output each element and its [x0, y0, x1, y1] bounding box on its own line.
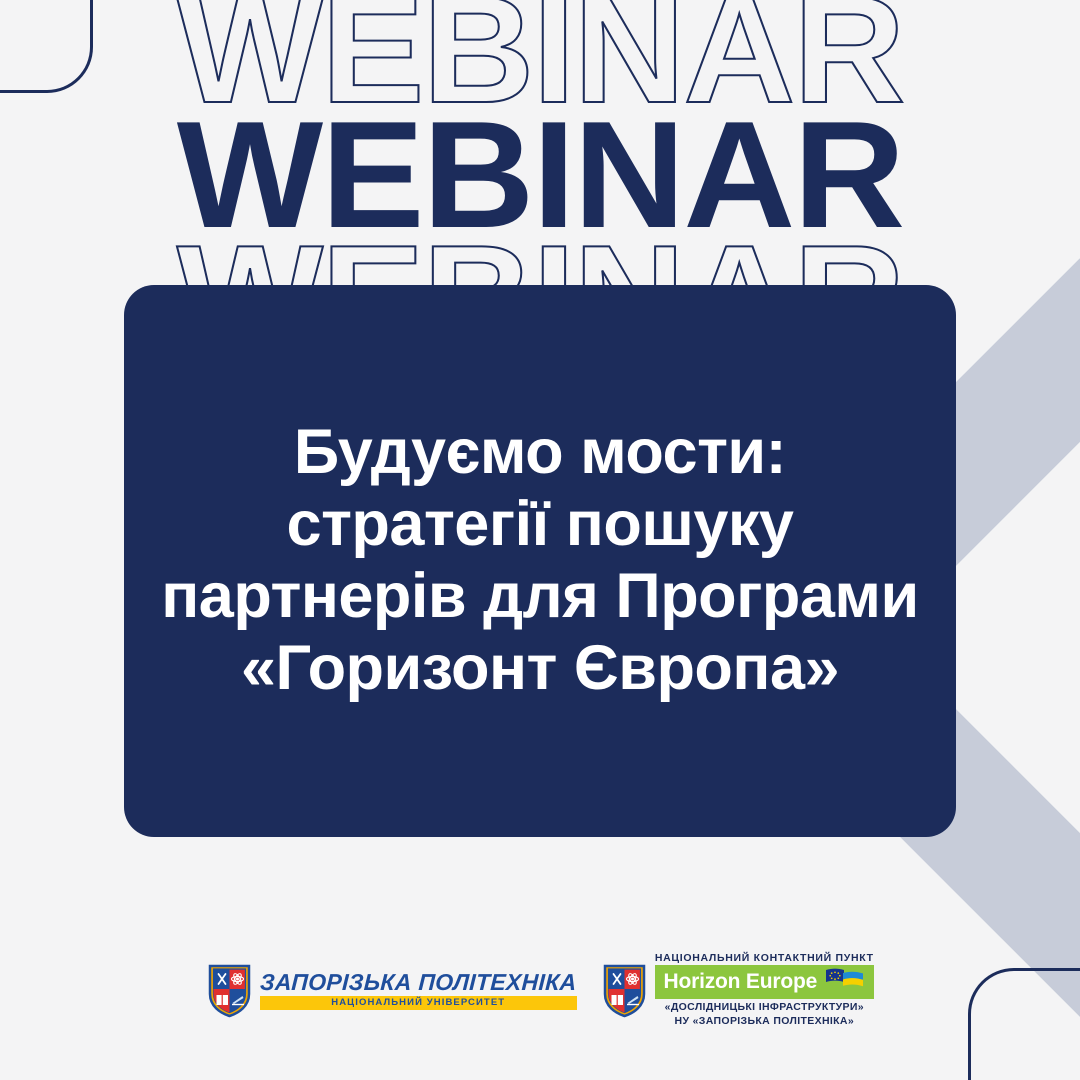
page-title: Будуємо мости: стратегії пошуку партнері…: [124, 417, 956, 704]
logo-he-sub-line2: НУ «ЗАПОРІЗЬКА ПОЛІТЕХНІКА»: [665, 1015, 864, 1028]
logo-zp-main-label: ЗАПОРІЗЬКА ПОЛІТЕХНІКА: [259, 971, 577, 994]
logo-zp-bar-label: НАЦІОНАЛЬНИЙ УНІВЕРСИТЕТ: [260, 996, 577, 1010]
logo-he-text-block: НАЦІОНАЛЬНИЙ КОНТАКТНИЙ ПУНКТ Horizon Eu…: [655, 953, 875, 1028]
logo-he-green-bar: Horizon Europe: [655, 965, 875, 999]
eu-ukraine-flags-icon: [825, 968, 865, 995]
poster-canvas: WEBINAR WEBINAR WEBINAR Будуємо мости: с…: [0, 0, 1080, 1080]
logo-zp-text-block: ЗАПОРІЗЬКА ПОЛІТЕХНІКА НАЦІОНАЛЬНИЙ УНІВ…: [260, 971, 577, 1010]
footer-logo-row: ЗАПОРІЗЬКА ПОЛІТЕХНІКА НАЦІОНАЛЬНИЙ УНІВ…: [0, 953, 1080, 1028]
logo-he-bar-label: Horizon Europe: [664, 971, 818, 992]
coat-of-arms-shield-icon: [206, 962, 253, 1018]
logo-he-sub-label: «ДОСЛІДНИЦЬКІ ІНФРАСТРУКТУРИ» НУ «ЗАПОРІ…: [665, 1001, 864, 1028]
logo-he-top-label: НАЦІОНАЛЬНИЙ КОНТАКТНИЙ ПУНКТ: [655, 953, 874, 964]
logo-zaporizhzhia-polytechnic: ЗАПОРІЗЬКА ПОЛІТЕХНІКА НАЦІОНАЛЬНИЙ УНІВ…: [206, 962, 577, 1018]
title-card: Будуємо мости: стратегії пошуку партнері…: [124, 285, 956, 837]
coat-of-arms-shield-icon: [601, 962, 648, 1018]
logo-horizon-europe-ncp: НАЦІОНАЛЬНИЙ КОНТАКТНИЙ ПУНКТ Horizon Eu…: [601, 953, 875, 1028]
logo-he-sub-line1: «ДОСЛІДНИЦЬКІ ІНФРАСТРУКТУРИ»: [665, 1001, 864, 1014]
